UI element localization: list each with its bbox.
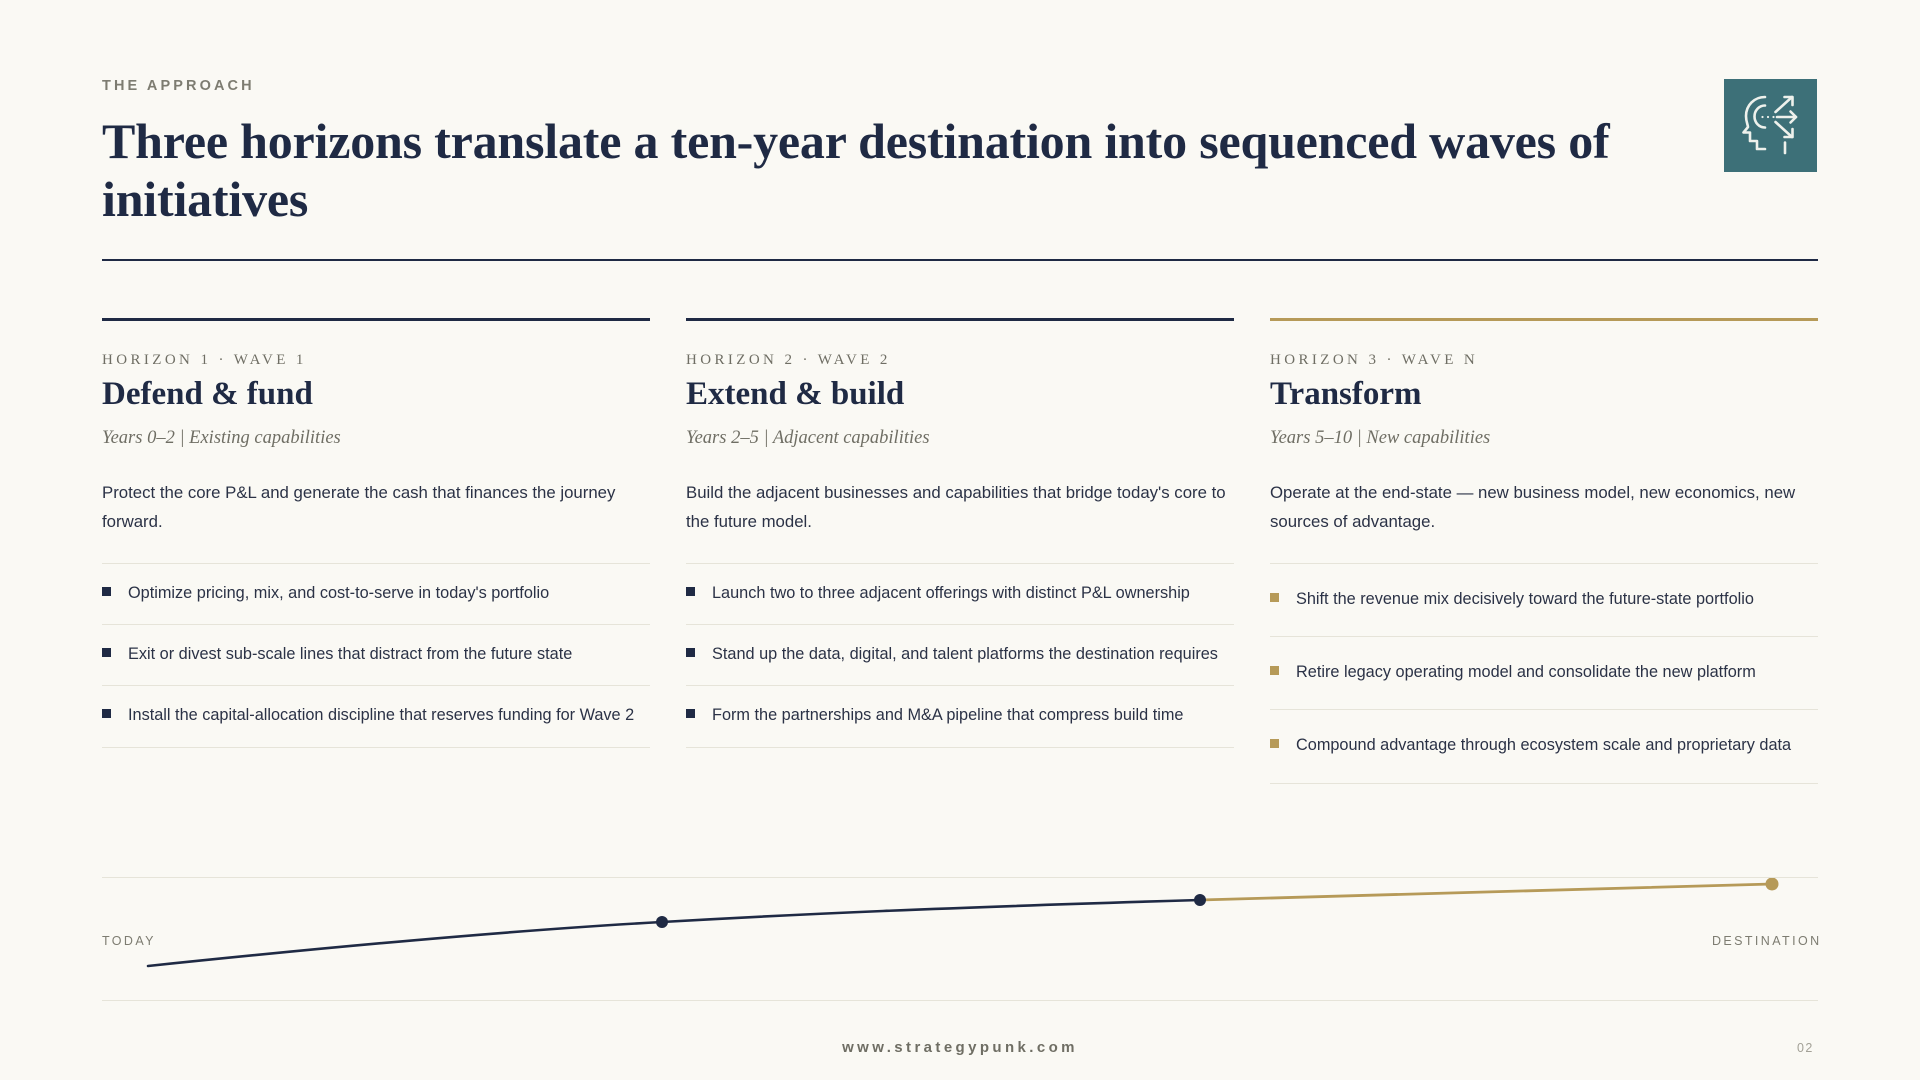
list-item: Retire legacy operating model and consol… (1270, 636, 1818, 709)
horizon-columns: HORIZON 1 · WAVE 1 Defend & fund Years 0… (102, 318, 1818, 784)
list-item-label: Stand up the data, digital, and talent p… (712, 641, 1218, 668)
wave-2-marker (1194, 894, 1206, 906)
list-item-label: Retire legacy operating model and consol… (1296, 659, 1756, 686)
timeline-end-label: DESTINATION (1712, 934, 1822, 948)
square-bullet-icon (1270, 739, 1279, 748)
square-bullet-icon (686, 587, 695, 596)
page-number: 02 (1797, 1041, 1814, 1055)
column-lede: Operate at the end-state — new business … (1270, 479, 1815, 537)
slide-header: THE APPROACH Three horizons translate a … (102, 78, 1818, 228)
wave-1-marker (656, 916, 668, 928)
timeline-start-label: TODAY (102, 934, 156, 948)
horizon-column-3: HORIZON 3 · WAVE N Transform Years 5–10 … (1270, 318, 1818, 784)
list-item: Shift the revenue mix decisively toward … (1270, 563, 1818, 636)
navy-trajectory-b (662, 900, 1200, 922)
square-bullet-icon (102, 709, 111, 718)
column-kicker: HORIZON 1 · WAVE 1 (102, 352, 650, 369)
footer-url[interactable]: www.strategypunk.com (0, 1039, 1920, 1056)
list-item-label: Compound advantage through ecosystem sca… (1296, 732, 1791, 759)
timeline-bottom-divider (102, 1000, 1818, 1001)
square-bullet-icon (1270, 666, 1279, 675)
column-bullet-list: Optimize pricing, mix, and cost-to-serve… (102, 563, 650, 748)
list-item-label: Form the partnerships and M&A pipeline t… (712, 702, 1183, 729)
column-meta: Years 2–5 | Adjacent capabilities (686, 428, 1234, 449)
list-item-label: Install the capital-allocation disciplin… (128, 702, 634, 729)
column-kicker: HORIZON 3 · WAVE N (1270, 352, 1818, 369)
horizon-column-1: HORIZON 1 · WAVE 1 Defend & fund Years 0… (102, 318, 650, 784)
list-item: Install the capital-allocation disciplin… (102, 685, 650, 747)
column-bullet-list: Launch two to three adjacent offerings w… (686, 563, 1234, 748)
list-item-label: Shift the revenue mix decisively toward … (1296, 586, 1754, 613)
column-meta: Years 5–10 | New capabilities (1270, 428, 1818, 449)
column-accent-rule (1270, 318, 1818, 321)
list-item-label: Optimize pricing, mix, and cost-to-serve… (128, 580, 549, 607)
square-bullet-icon (102, 648, 111, 657)
list-item-label: Exit or divest sub-scale lines that dist… (128, 641, 572, 668)
list-item: Optimize pricing, mix, and cost-to-serve… (102, 563, 650, 624)
column-accent-rule (102, 318, 650, 321)
list-item-label: Launch two to three adjacent offerings w… (712, 580, 1190, 607)
column-lede: Build the adjacent businesses and capabi… (686, 479, 1231, 537)
column-title: Defend & fund (102, 376, 650, 414)
column-kicker: HORIZON 2 · WAVE 2 (686, 352, 1234, 369)
head-profile-diverging-arrows-icon (1724, 79, 1817, 172)
list-item: Launch two to three adjacent offerings w… (686, 563, 1234, 624)
topic-badge (1724, 79, 1817, 172)
eyebrow-label: THE APPROACH (102, 78, 1818, 94)
destination-marker (1766, 878, 1779, 891)
column-lede: Protect the core P&L and generate the ca… (102, 479, 647, 537)
header-divider (102, 259, 1818, 261)
square-bullet-icon (102, 587, 111, 596)
square-bullet-icon (1270, 593, 1279, 602)
column-title: Transform (1270, 376, 1818, 414)
column-accent-rule (686, 318, 1234, 321)
slide: THE APPROACH Three horizons translate a … (0, 0, 1920, 1080)
column-bullet-list: Shift the revenue mix decisively toward … (1270, 563, 1818, 784)
horizon-column-2: HORIZON 2 · WAVE 2 Extend & build Years … (686, 318, 1234, 784)
square-bullet-icon (686, 709, 695, 718)
list-item: Exit or divest sub-scale lines that dist… (102, 624, 650, 685)
column-title: Extend & build (686, 376, 1234, 414)
navy-trajectory-a (148, 922, 662, 966)
page-title: Three horizons translate a ten-year dest… (102, 112, 1632, 228)
square-bullet-icon (686, 648, 695, 657)
column-meta: Years 0–2 | Existing capabilities (102, 428, 650, 449)
gold-trajectory (1200, 884, 1772, 900)
trajectory-chart (102, 878, 1818, 996)
list-item: Stand up the data, digital, and talent p… (686, 624, 1234, 685)
list-item: Form the partnerships and M&A pipeline t… (686, 685, 1234, 747)
list-item: Compound advantage through ecosystem sca… (1270, 709, 1818, 783)
